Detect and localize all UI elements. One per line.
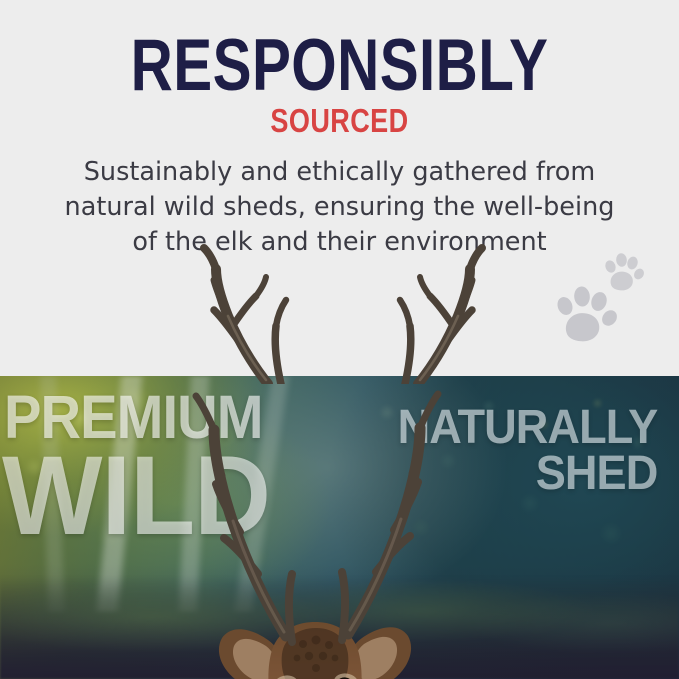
description-text: Sustainably and ethically gathered from …: [39, 155, 640, 260]
description-line-2: natural wild sheds, ensuring the well-be…: [39, 190, 640, 225]
page-subtitle: SOURCED: [61, 104, 618, 138]
top-text-panel: RESPONSIBLY SOURCED Sustainably and ethi…: [0, 0, 679, 376]
product-infographic: RESPONSIBLY SOURCED Sustainably and ethi…: [0, 0, 679, 679]
page-title: RESPONSIBLY: [68, 30, 611, 102]
paw-print-icon-large: [553, 283, 623, 353]
stag-illustration: [0, 376, 679, 679]
description-line-3: of the elk and their environment: [39, 225, 640, 260]
description-line-1: Sustainably and ethically gathered from: [39, 155, 640, 190]
stag-layer: [0, 376, 679, 679]
